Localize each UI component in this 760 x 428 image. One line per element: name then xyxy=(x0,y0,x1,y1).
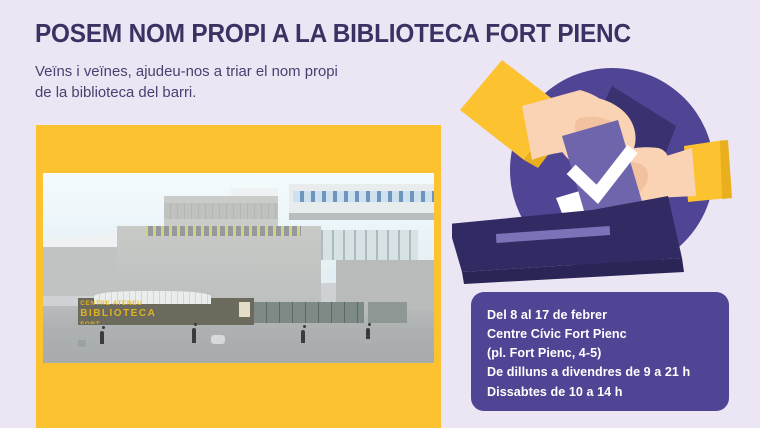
photo-pedestrian-head xyxy=(194,323,197,326)
subtitle-line-2: de la biblioteca del barri. xyxy=(35,83,437,104)
photo-pedestrian-head xyxy=(303,325,306,328)
photo-walkway-soffit xyxy=(289,213,434,221)
photo-building-signage: CENTRE ATENEU BIBLIOTECA FORT PIENC xyxy=(78,299,254,324)
info-line-venue: Centre Cívic Fort Pienc xyxy=(487,325,729,344)
photo-ribbon-window xyxy=(145,226,301,236)
photo-shopping-cart xyxy=(78,340,86,347)
photo-ground-floor-windows-right xyxy=(368,302,407,323)
info-line-dates: Del 8 al 17 de febrer xyxy=(487,306,729,325)
photo-pedestrian-body xyxy=(301,330,305,343)
signage-line-1: CENTRE ATENEU xyxy=(80,300,254,308)
photo-pram xyxy=(211,335,225,344)
photo-pedestrian-body xyxy=(366,328,370,339)
right-sleeve-shadow xyxy=(720,140,732,199)
signage-line-3: FORT xyxy=(80,321,254,324)
poster-canvas: POSEM NOM PROPI A LA BIBLIOTECA FORT PIE… xyxy=(0,0,760,428)
info-line-weekday-hours: De dilluns a divendres de 9 a 21 h xyxy=(487,363,729,382)
voting-illustration xyxy=(452,48,760,300)
signage-line-2: BIBLIOTECA xyxy=(80,308,254,321)
photo-ground-floor-windows xyxy=(254,302,363,323)
photo-pedestrian-body xyxy=(192,328,196,343)
photo-pedestrian-head xyxy=(368,323,371,326)
photo-notice-board xyxy=(239,302,251,317)
subtitle-line-1: Veïns i veïnes, ajudeu-nos a triar el no… xyxy=(35,62,437,83)
library-facade-photo: CENTRE ATENEU BIBLIOTECA FORT PIENC xyxy=(43,173,434,363)
photo-upper-louvres xyxy=(164,203,277,218)
info-line-saturday-hours: Dissabtes de 10 a 14 h xyxy=(487,383,729,402)
photo-walkway-glazing xyxy=(293,191,434,202)
event-info-box: Del 8 al 17 de febrer Centre Cívic Fort … xyxy=(471,292,729,411)
photo-pedestrian-head xyxy=(102,326,105,329)
photo-left-wall xyxy=(43,247,121,296)
photo-pedestrian-body xyxy=(100,331,104,344)
page-title: POSEM NOM PROPI A LA BIBLIOTECA FORT PIE… xyxy=(35,21,665,49)
info-line-address: (pl. Fort Pienc, 4-5) xyxy=(487,344,729,363)
photo-frame: CENTRE ATENEU BIBLIOTECA FORT PIENC xyxy=(36,125,441,428)
subtitle-block: Veïns i veïnes, ajudeu-nos a triar el no… xyxy=(35,62,437,104)
